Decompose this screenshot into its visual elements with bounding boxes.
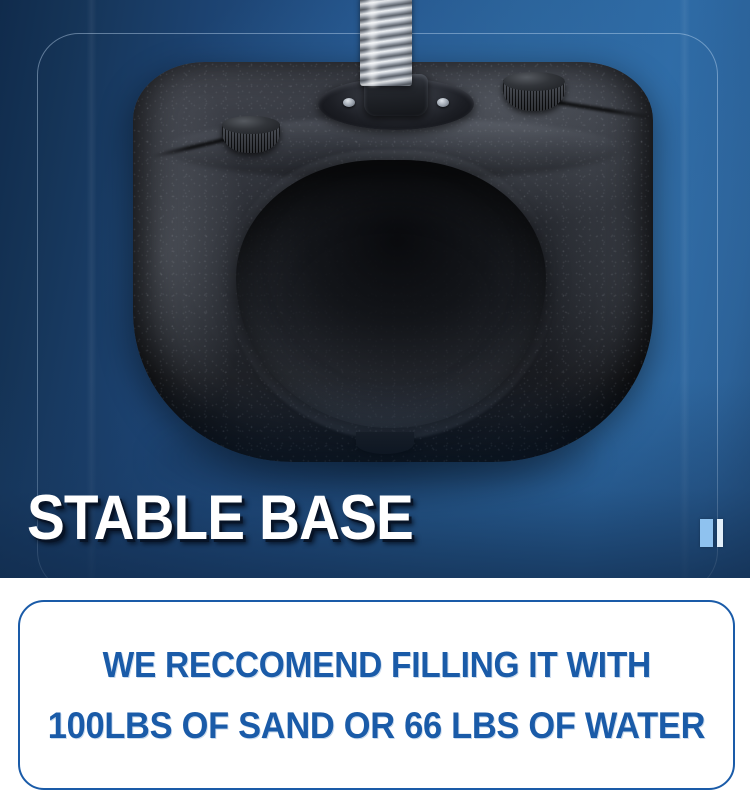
base-center-bowl [236, 160, 546, 428]
recommendation-line-1: WE RECCOMEND FILLING IT WITH [102, 647, 650, 683]
base-bottom-nub [356, 432, 414, 454]
hub-bolt-right-icon [437, 98, 449, 107]
base-bowl-rim [226, 150, 556, 440]
center-hub-plate [318, 78, 474, 130]
chrome-threaded-pole-icon [360, 0, 412, 86]
hero-section: STABLE BASE [0, 0, 750, 578]
hub-bolt-left-icon [343, 98, 355, 107]
pause-bar-active-icon[interactable] [700, 519, 713, 547]
pole-highlight [366, 0, 380, 86]
fill-cap-right-top [503, 72, 565, 91]
product-image-umbrella-base [0, 0, 750, 500]
pause-bar-inactive-icon[interactable] [717, 519, 723, 547]
fill-cap-right-side [503, 80, 565, 110]
base-seam-right [506, 92, 655, 119]
center-hub-collar [364, 74, 428, 116]
product-banner-page: STABLE BASE WE RECCOMEND FILLING IT WITH… [0, 0, 750, 800]
base-texture-overlay [133, 62, 653, 462]
fill-cap-right-icon [503, 72, 565, 114]
base-body [133, 62, 653, 462]
recommendation-box: WE RECCOMEND FILLING IT WITH 100LBS OF S… [18, 600, 735, 790]
notice-section: WE RECCOMEND FILLING IT WITH 100LBS OF S… [0, 578, 750, 800]
base-shoulder-ridge [165, 118, 621, 180]
slide-pause-indicator[interactable] [700, 519, 726, 547]
base-seam-left [151, 125, 279, 158]
hero-headline: STABLE BASE [27, 487, 413, 550]
fill-cap-left-side [222, 124, 280, 153]
fill-cap-left-top [222, 116, 280, 134]
fill-cap-left-icon [222, 116, 280, 156]
recommendation-line-2: 100LBS OF SAND OR 66 LBS OF WATER [48, 707, 705, 744]
